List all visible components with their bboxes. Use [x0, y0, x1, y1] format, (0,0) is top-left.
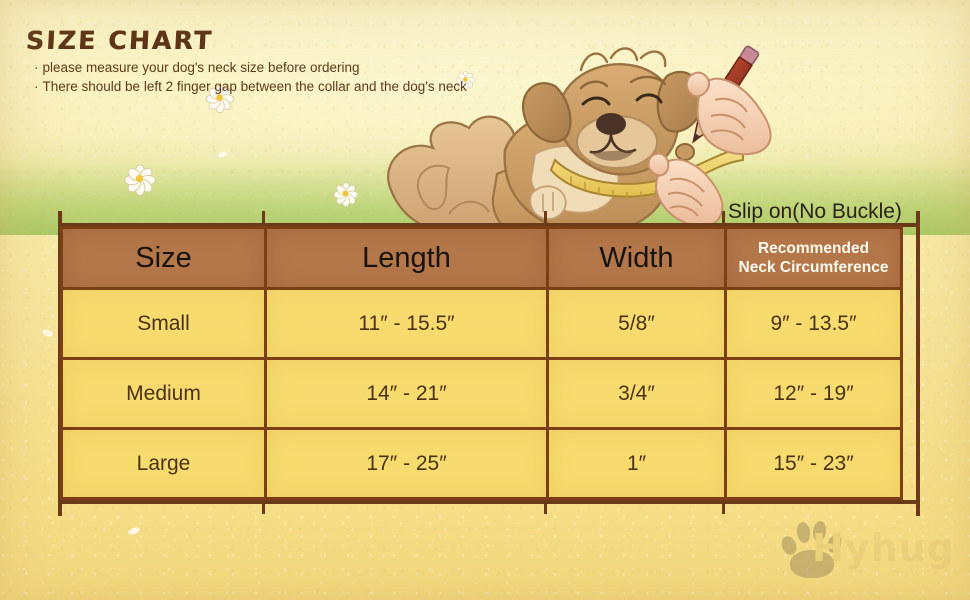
frame-tick-col1: [262, 211, 265, 225]
slip-on-label: Slip on(No Buckle): [728, 200, 902, 224]
petal-speck: [127, 526, 140, 536]
bullet-marker: ·: [34, 58, 39, 77]
instruction-text: please measure your dog's neck size befo…: [43, 60, 360, 75]
cell-length: 17″ - 25″: [266, 429, 548, 499]
daisy-flower: [125, 164, 152, 191]
cell-length: 14″ - 21″: [266, 359, 548, 429]
hand-holding-tape-illustration: [640, 148, 760, 238]
list-item: ·please measure your dog's neck size bef…: [34, 58, 467, 77]
cell-size: Medium: [62, 359, 266, 429]
table-row: Small 11″ - 15.5″ 5/8″ 9″ - 13.5″: [62, 289, 902, 359]
cell-width: 5/8″: [548, 289, 726, 359]
size-chart-table: Size Length Width Recommended Neck Circu…: [60, 226, 903, 500]
frame-right-line: [916, 211, 920, 516]
instruction-list: ·please measure your dog's neck size bef…: [34, 58, 467, 96]
brand-watermark: Hyhug: [778, 512, 968, 588]
table-row: Medium 14″ - 21″ 3/4″ 12″ - 19″: [62, 359, 902, 429]
petal-speck: [217, 150, 227, 158]
column-header-length: Length: [266, 228, 548, 289]
daisy-flower: [334, 182, 355, 203]
table-header-row: Size Length Width Recommended Neck Circu…: [62, 228, 902, 289]
neck-header-line1: Recommended: [733, 239, 894, 258]
cell-neck: 12″ - 19″: [726, 359, 902, 429]
column-header-neck-circumference: Recommended Neck Circumference: [726, 228, 902, 289]
neck-header-line2: Neck Circumference: [733, 258, 894, 277]
cell-length: 11″ - 15.5″: [266, 289, 548, 359]
cell-neck: 9″ - 13.5″: [726, 289, 902, 359]
cell-width: 1″: [548, 429, 726, 499]
cell-neck: 15″ - 23″: [726, 429, 902, 499]
flower-center: [342, 190, 348, 196]
frame-bottom-line: [58, 500, 920, 504]
instruction-text: There should be left 2 finger gap betwee…: [43, 79, 467, 94]
cell-size: Large: [62, 429, 266, 499]
list-item: ·There should be left 2 finger gap betwe…: [34, 77, 467, 96]
flower-center: [135, 174, 142, 181]
brand-name: Hyhug: [812, 526, 955, 570]
column-header-size: Size: [62, 228, 266, 289]
cell-width: 3/4″: [548, 359, 726, 429]
petal-speck: [41, 328, 53, 337]
table-row: Large 17″ - 25″ 1″ 15″ - 23″: [62, 429, 902, 499]
column-header-width: Width: [548, 228, 726, 289]
size-chart-page: SIZE CHART ·please measure your dog's ne…: [0, 0, 970, 600]
bullet-marker: ·: [34, 77, 39, 96]
page-title: SIZE CHART: [25, 26, 214, 55]
cell-size: Small: [62, 289, 266, 359]
